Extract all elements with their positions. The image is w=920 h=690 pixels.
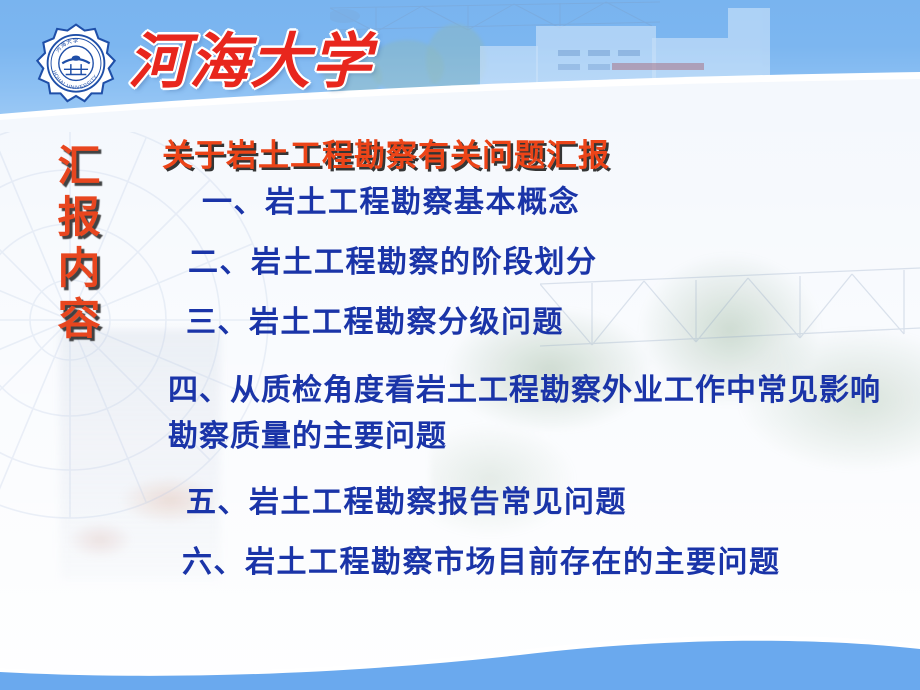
page-title: 关于岩土工程勘察有关问题汇报 — [162, 130, 910, 175]
bottom-wave-decoration — [0, 610, 920, 690]
toc-item-1[interactable]: 一、岩土工程勘察基本概念 — [202, 188, 580, 218]
toc-item-4[interactable]: 四、从质检角度看岩土工程勘察外业工作中常见影响勘察质量的主要问题 — [168, 368, 908, 459]
header-signboard — [612, 63, 704, 70]
vertical-label-char: 汇 — [52, 142, 106, 193]
toc-item-3[interactable]: 三、岩土工程勘察分级问题 — [186, 308, 564, 338]
slide-content: 关于岩土工程勘察有关问题汇报 一、岩土工程勘察基本概念 二、岩土工程勘察的阶段划… — [120, 130, 910, 181]
vertical-label-char: 内 — [52, 244, 106, 295]
toc-item-5[interactable]: 五、岩土工程勘察报告常见问题 — [186, 488, 627, 518]
hohai-university-seal-icon: 河海大学 HOHAI UNIVERSITY — [33, 22, 119, 108]
presentation-slide: 河海大学 HOHAI UNIVERSITY 河海大学 汇 报 内 容 关于岩土工… — [0, 0, 920, 690]
school-name-calligraphy: 河海大学 — [128, 22, 358, 102]
toc-item-2[interactable]: 二、岩土工程勘察的阶段划分 — [188, 248, 598, 278]
header-banner: 河海大学 HOHAI UNIVERSITY 河海大学 — [0, 0, 920, 132]
vertical-label-char: 报 — [52, 193, 106, 244]
vertical-label-char: 容 — [52, 295, 106, 346]
vertical-section-label: 汇 报 内 容 — [52, 142, 106, 346]
toc-item-6[interactable]: 六、岩土工程勘察市场目前存在的主要问题 — [182, 548, 781, 578]
